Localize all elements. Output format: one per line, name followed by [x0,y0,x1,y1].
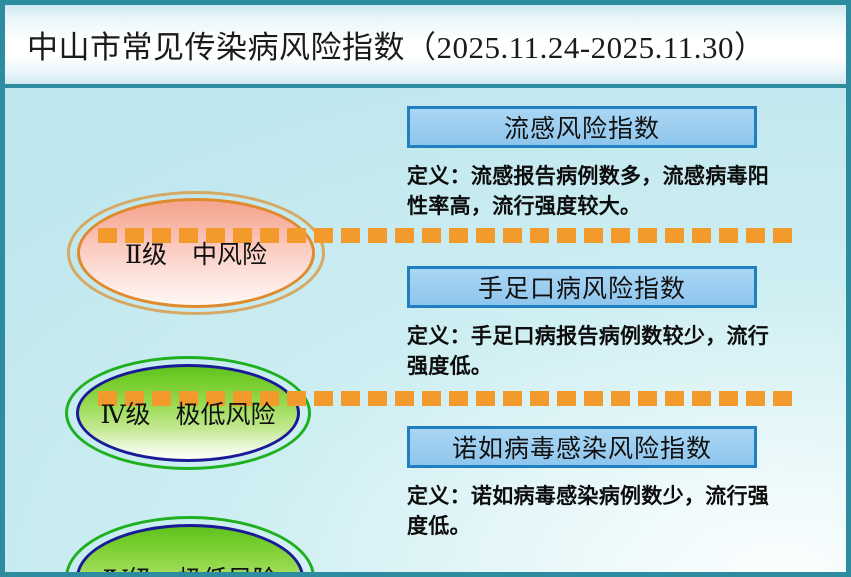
separator-dash [611,391,630,406]
separator-dash [287,391,306,406]
separator-dash [638,228,657,243]
separator-dash [503,391,522,406]
separator-dash [422,391,441,406]
risk-index-poster: 中山市常见传染病风险指数（2025.11.24-2025.11.30） Ⅱ级 中… [0,0,851,577]
separator-dash [719,228,738,243]
separator-dash [422,228,441,243]
separator-dash [611,228,630,243]
separator-dash [530,228,549,243]
panel-norovirus: 诺如病毒感染风险指数 定义：诺如病毒感染病例数少，流行强度低。 [407,426,757,542]
separator-dash [341,391,360,406]
separator-dash [476,228,495,243]
separator-dash [395,228,414,243]
separator-dash [665,391,684,406]
separator-dash [314,391,333,406]
separator-dash [692,391,711,406]
separator-dash [557,391,576,406]
separator-dash [746,391,765,406]
panel-header-label: 手足口病风险指数 [478,269,686,305]
separator-dash [746,228,765,243]
risk-badge-label: Ⅳ级 极低风险 [101,395,276,431]
panel-header-label: 流感风险指数 [504,109,660,145]
separator-dash [314,228,333,243]
separator-dash [530,391,549,406]
separator-dash [287,228,306,243]
risk-badge-influenza: Ⅱ级 中风险 [67,191,325,315]
separator-dash [368,228,387,243]
panel-header-label: 诺如病毒感染风险指数 [452,429,712,465]
panel-definition-hfmd: 定义：手足口病报告病例数较少，流行强度低。 [407,322,772,382]
panel-header-norovirus: 诺如病毒感染风险指数 [407,426,757,468]
separator-dash [584,391,603,406]
poster-body: Ⅱ级 中风险 流感风险指数 定义：流感报告病例数多，流感病毒阳性率高，流行强度较… [5,88,846,572]
risk-badge-label: Ⅳ级 极低风险 [103,560,278,572]
separator-dash [449,391,468,406]
separator-dash [773,391,792,406]
separator-dash [395,391,414,406]
panel-influenza: 流感风险指数 定义：流感报告病例数多，流感病毒阳性率高，流行强度较大。 [407,106,757,222]
poster-title-bar: 中山市常见传染病风险指数（2025.11.24-2025.11.30） [5,5,846,88]
separator-dash [449,228,468,243]
panel-header-influenza: 流感风险指数 [407,106,757,148]
separator-dash [98,228,117,243]
panel-hfmd: 手足口病风险指数 定义：手足口病报告病例数较少，流行强度低。 [407,266,757,382]
separator-dash [638,391,657,406]
panel-header-hfmd: 手足口病风险指数 [407,266,757,308]
separator-dash [665,228,684,243]
separator-dash [719,391,738,406]
separator-dash [584,228,603,243]
separator-dash [368,391,387,406]
panel-definition-norovirus: 定义：诺如病毒感染病例数少，流行强度低。 [407,482,772,542]
risk-badge-norovirus: Ⅳ级 极低风险 [65,516,315,572]
separator-dash [503,228,522,243]
separator-dash [557,228,576,243]
risk-badge-label: Ⅱ级 中风险 [125,235,267,271]
separator-dash [476,391,495,406]
panel-definition-influenza: 定义：流感报告病例数多，流感病毒阳性率高，流行强度较大。 [407,162,772,222]
separator-dash [692,228,711,243]
risk-badge-hfmd: Ⅳ级 极低风险 [65,356,311,470]
separator-dash [341,228,360,243]
page-title: 中山市常见传染病风险指数（2025.11.24-2025.11.30） [27,22,766,67]
separator-dash [773,228,792,243]
